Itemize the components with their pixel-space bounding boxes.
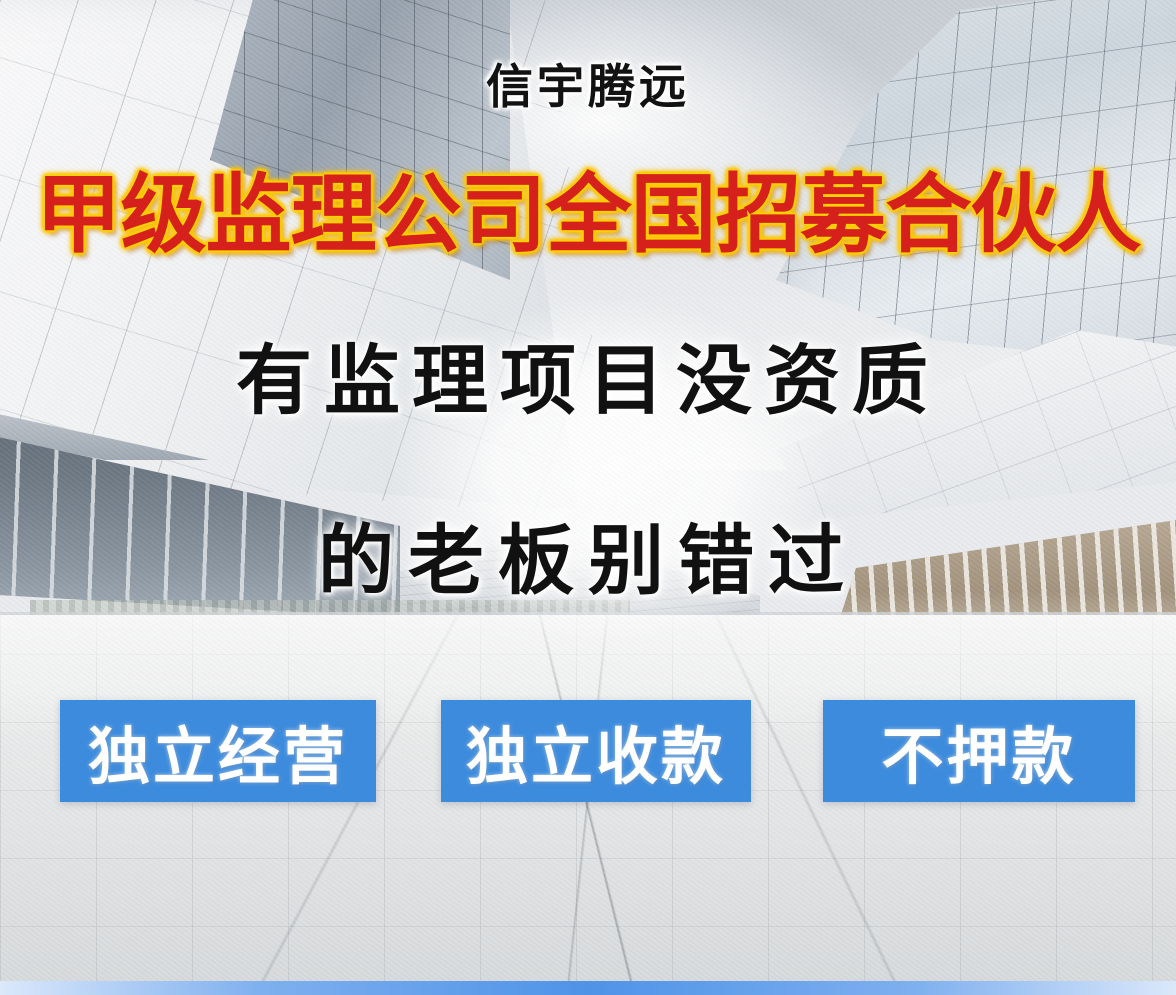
- promo-poster: 信宇腾远 甲级监理公司全国招募合伙人 有监理项目没资质 的老板别错过 独立经营 …: [0, 0, 1176, 995]
- feature-badge-row: 独立经营 独立收款 不押款: [52, 700, 1152, 802]
- badge-independent-operation[interactable]: 独立经营: [60, 700, 376, 802]
- badge-no-deposit[interactable]: 不押款: [823, 700, 1135, 802]
- subline-2: 的老板别错过: [0, 524, 1176, 600]
- background-photo: [0, 0, 1176, 995]
- headline-red: 甲级监理公司全国招募合伙人: [0, 172, 1176, 258]
- brand-title: 信宇腾远: [0, 48, 1176, 117]
- subline-1: 有监理项目没资质: [0, 344, 1176, 420]
- bottom-blue-strip: [0, 981, 1176, 995]
- badge-independent-collection[interactable]: 独立收款: [441, 700, 751, 802]
